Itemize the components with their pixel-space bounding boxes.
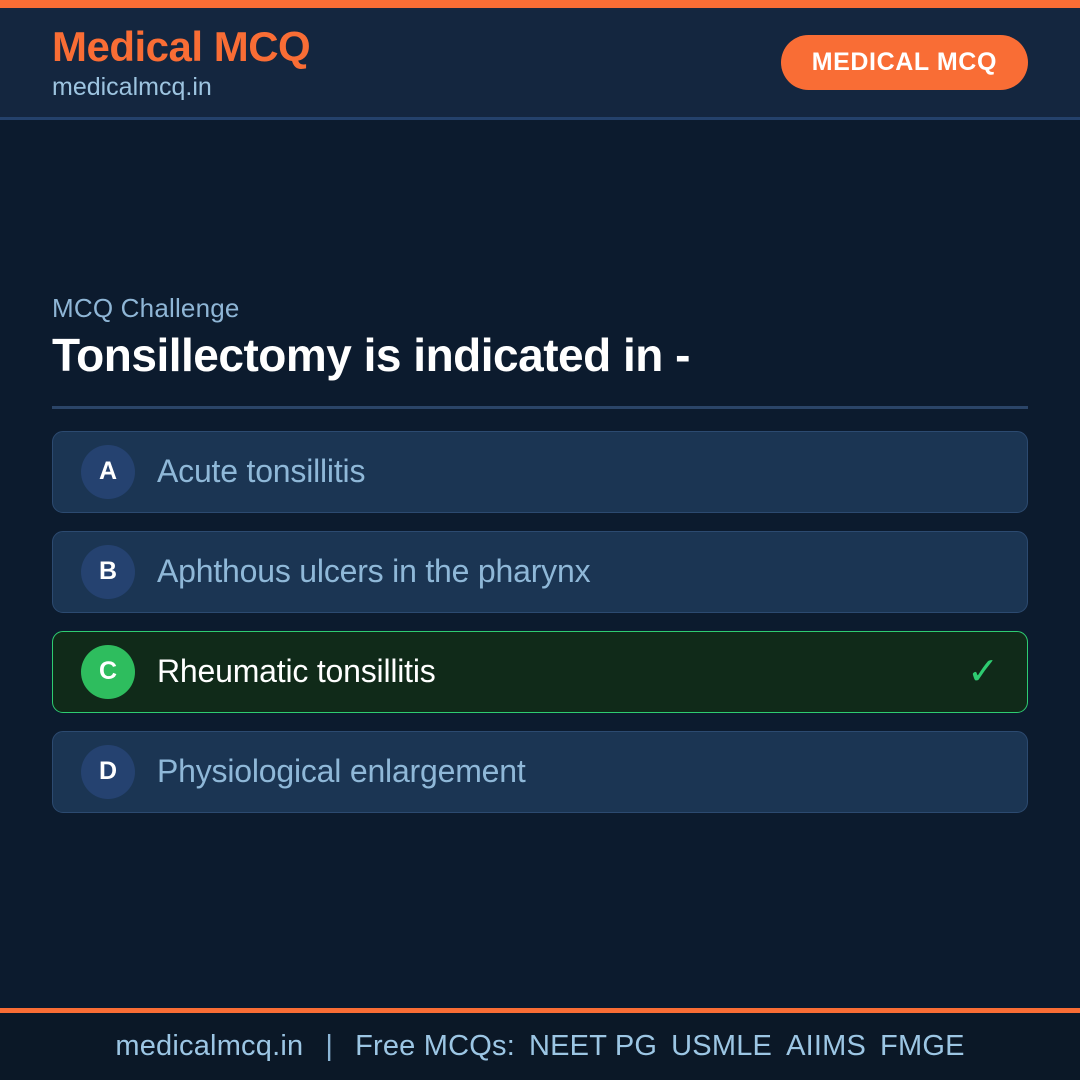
option-text: Physiological enlargement [157,753,526,790]
option-letter: C [81,645,135,699]
footer-exam-usmle[interactable]: USMLE [671,1030,772,1063]
mcq-card: Medical MCQ medicalmcq.in MEDICAL MCQ MC… [0,0,1080,1080]
option-text: Aphthous ulcers in the pharynx [157,553,590,590]
brand-title: Medical MCQ [52,26,310,68]
question-divider [52,406,1028,409]
options-list: A Acute tonsillitis ✓ B Aphthous ulcers … [52,431,1028,813]
footer-tagline: Free MCQs: [355,1030,515,1063]
header-badge: MEDICAL MCQ [781,35,1028,90]
footer-site[interactable]: medicalmcq.in [115,1030,303,1063]
option-letter: D [81,745,135,799]
page-footer: medicalmcq.in | Free MCQs: NEET PG USMLE… [0,1008,1080,1080]
option-letter: A [81,445,135,499]
kicker-label: MCQ Challenge [52,293,1028,324]
footer-exam-neetpg[interactable]: NEET PG [529,1030,657,1063]
option-c[interactable]: C Rheumatic tonsillitis ✓ [52,631,1028,713]
option-d[interactable]: D Physiological enlargement ✓ [52,731,1028,813]
content-area: MCQ Challenge Tonsillectomy is indicated… [0,120,1080,1008]
brand-subtitle: medicalmcq.in [52,75,310,100]
question-text: Tonsillectomy is indicated in - [52,330,1028,382]
option-letter: B [81,545,135,599]
top-accent-bar [0,0,1080,8]
footer-separator: | [325,1030,333,1063]
option-text: Rheumatic tonsillitis [157,653,436,690]
option-a[interactable]: A Acute tonsillitis ✓ [52,431,1028,513]
brand: Medical MCQ medicalmcq.in [52,26,310,100]
check-icon: ✓ [967,653,999,691]
option-text: Acute tonsillitis [157,453,365,490]
option-b[interactable]: B Aphthous ulcers in the pharynx ✓ [52,531,1028,613]
footer-exam-aiims[interactable]: AIIMS [786,1030,866,1063]
page-header: Medical MCQ medicalmcq.in MEDICAL MCQ [0,8,1080,120]
footer-exam-fmge[interactable]: FMGE [880,1030,965,1063]
